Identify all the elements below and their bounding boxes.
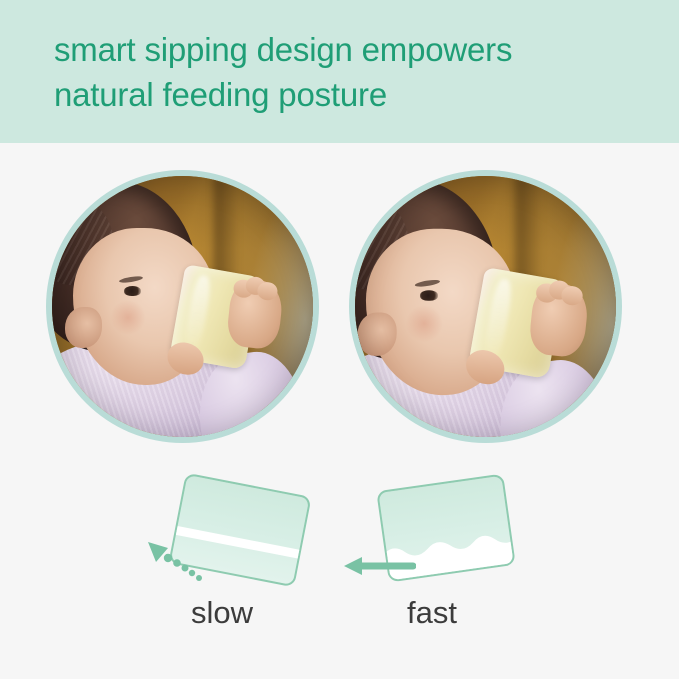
baby-eyebrow — [119, 275, 143, 284]
baby-finger — [561, 286, 584, 307]
cup-sheen — [184, 274, 213, 351]
cup-sheen — [483, 277, 514, 359]
solid-arrow-icon — [342, 554, 416, 578]
baby-cheek — [405, 305, 444, 342]
photo-baby-drinking-right — [349, 170, 622, 443]
photo-frame-right — [355, 176, 616, 437]
baby-cheek — [110, 300, 147, 334]
baby-eye — [420, 290, 438, 300]
dotted-arrow-icon — [146, 538, 208, 584]
header-band: smart sipping design empowers natural fe… — [0, 0, 679, 143]
photo-baby-drinking-left — [46, 170, 319, 443]
photo-frame-left — [52, 176, 313, 437]
product-infographic: smart sipping design empowers natural fe… — [0, 0, 679, 679]
label-fast: fast — [342, 595, 522, 631]
photo-zoom-wrapper — [355, 176, 616, 437]
flow-comparison-diagram: slow fast — [0, 462, 679, 679]
baby-ear — [65, 307, 102, 349]
baby-eye — [124, 286, 141, 295]
page-title: smart sipping design empowers natural fe… — [54, 28, 654, 117]
baby-ear — [358, 312, 397, 356]
baby-eyebrow — [415, 278, 441, 287]
label-slow: slow — [132, 595, 312, 631]
baby-finger — [257, 282, 279, 302]
